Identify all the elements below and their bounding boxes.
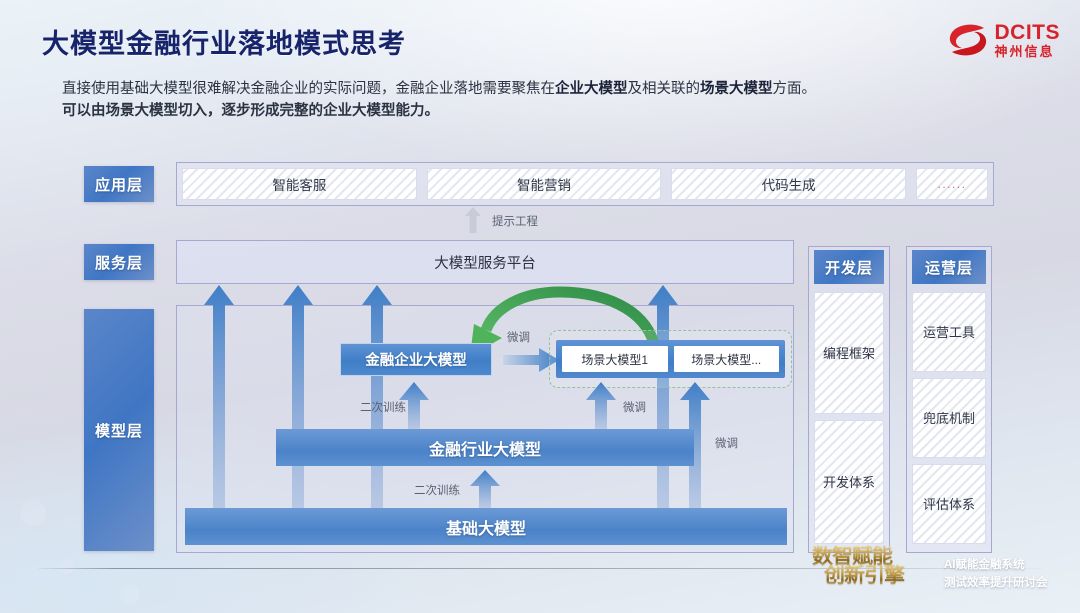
subtitle-emphasis-scenario: 场景大模型 (700, 81, 773, 97)
finetune-label-scenario: 微调 (623, 399, 646, 415)
dev-cell-1[interactable]: 开发体系 (814, 420, 884, 544)
bokeh-decoration (20, 500, 46, 526)
prompt-engineering-arrow-icon (465, 207, 481, 233)
ops-cell-2[interactable]: 评估体系 (912, 464, 986, 544)
layer-tab-model[interactable]: 模型层 (84, 309, 154, 551)
event-name: AI赋能金融系统 测试效率提升研讨会 (944, 556, 1048, 592)
application-items-row: 智能客服 智能营销 代码生成 ...... (182, 168, 988, 200)
logo-english: DCITS (995, 22, 1061, 43)
event-line-2: 测试效率提升研讨会 (944, 574, 1048, 592)
page-title: 大模型金融行业落地模式思考 (42, 22, 406, 61)
app-item-more[interactable]: ...... (916, 168, 988, 200)
flow-arrow-base-to-platform-1 (204, 285, 234, 515)
dev-cell-0[interactable]: 编程框架 (814, 292, 884, 414)
dcits-swoosh-icon (948, 23, 988, 57)
app-item-0[interactable]: 智能客服 (182, 168, 417, 200)
logo-chinese: 神州信息 (995, 45, 1061, 58)
flow-arrow-base-to-industry (470, 470, 500, 508)
slogan-line-2: 创新引擎 (824, 565, 932, 586)
company-logo: DCITS 神州信息 (948, 22, 1061, 58)
subtitle-emphasis-enterprise: 企业大模型 (555, 81, 628, 97)
subtitle-part-e: 方面。 (773, 81, 817, 97)
dev-layer-title[interactable]: 开发层 (814, 250, 884, 284)
scenario-models-container: 场景大模型1 场景大模型... (556, 340, 785, 378)
layer-tab-application[interactable]: 应用层 (84, 166, 154, 202)
prompt-engineering-label: 提示工程 (492, 213, 538, 229)
app-item-2[interactable]: 代码生成 (671, 168, 906, 200)
bokeh-decoration (120, 585, 140, 605)
finetune-label-top: 微调 (507, 329, 530, 345)
event-line-1: AI赋能金融系统 (944, 556, 1048, 574)
ops-cell-0[interactable]: 运营工具 (912, 292, 986, 372)
enterprise-model-box[interactable]: 金融企业大模型 (340, 343, 492, 376)
slide-canvas: 大模型金融行业落地模式思考 直接使用基础大模型很难解决金融企业的实际问题，金融企… (0, 0, 1080, 613)
scenario-model-1[interactable]: 场景大模型... (674, 346, 780, 372)
scenario-model-0[interactable]: 场景大模型1 (562, 346, 668, 372)
industry-model-box[interactable]: 金融行业大模型 (276, 429, 694, 466)
subtitle-part-a: 直接使用基础大模型很难解决金融企业的实际问题，金融企业落地需要聚焦在 (62, 81, 555, 97)
page-subtitle: 直接使用基础大模型很难解决金融企业的实际问题，金融企业落地需要聚焦在企业大模型及… (62, 78, 992, 122)
app-item-1[interactable]: 智能营销 (427, 168, 662, 200)
bokeh-decoration (60, 560, 74, 574)
retrain-label-industry: 二次训练 (414, 482, 460, 498)
service-platform-label: 大模型服务平台 (177, 241, 793, 283)
retrain-label-enterprise: 二次训练 (360, 399, 406, 415)
service-layer-panel: 大模型服务平台 (176, 240, 794, 284)
event-slogan: 数智赋能 创新引擎 (812, 546, 932, 586)
finetune-label-base: 微调 (715, 435, 738, 451)
subtitle-line-2: 可以由场景大模型切入，逐步形成完整的企业大模型能力。 (62, 100, 992, 122)
ops-cell-1[interactable]: 兜底机制 (912, 378, 986, 458)
layer-tab-service[interactable]: 服务层 (84, 244, 154, 280)
flow-arrow-industry-to-scenario (586, 382, 616, 430)
foundation-model-box[interactable]: 基础大模型 (185, 508, 787, 545)
subtitle-part-c: 及相关联的 (628, 81, 701, 97)
subtitle-line-1: 直接使用基础大模型很难解决金融企业的实际问题，金融企业落地需要聚焦在企业大模型及… (62, 78, 992, 100)
flow-arrow-base-to-platform-2 (283, 285, 313, 515)
logo-text: DCITS 神州信息 (995, 22, 1061, 58)
ops-layer-title[interactable]: 运营层 (912, 250, 986, 284)
ellipsis-label: ...... (938, 177, 967, 191)
